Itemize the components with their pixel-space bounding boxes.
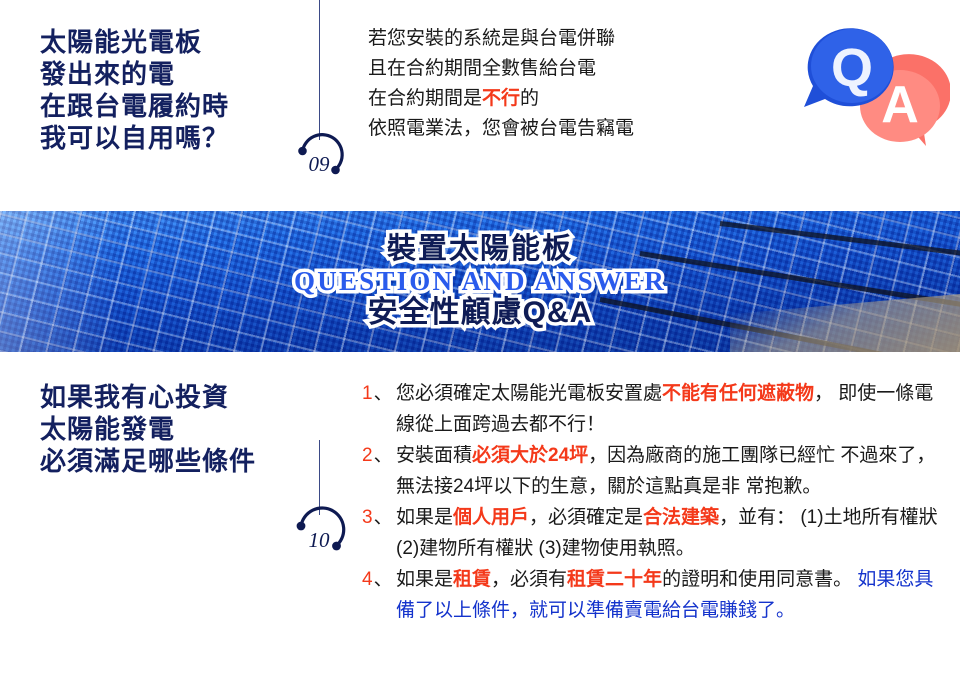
text-run: 不能有任何遮蔽物 — [662, 383, 814, 404]
svg-text:Q: Q — [831, 38, 873, 98]
infographic-page: 太陽能光電板 發出來的電 在跟台電履約時 我可以自用嗎？ 09 若您安裝的系統是… — [0, 0, 960, 679]
list-item-text: 如果是個人用戶，必須確定是合法建築，並有： (1)土地所有權狀 (2)建物所有權… — [396, 502, 952, 564]
answer-line: 依照電業法，您會被台電告竊電 — [368, 114, 634, 144]
text-run: 依照電業法，您會被台電告竊電 — [368, 118, 634, 139]
text-run: 租賃 — [453, 569, 491, 590]
text-run: 且在合約期間全數售給台電 — [368, 58, 596, 79]
banner-text-group: 裝置太陽能板 QUESTION AND ANSWER 安全性顧慮Q&A — [0, 211, 960, 352]
badge-leader-line-10 — [319, 440, 320, 515]
badge-10: 10 — [291, 512, 343, 564]
section-banner: 裝置太陽能板 QUESTION AND ANSWER 安全性顧慮Q&A — [0, 211, 960, 352]
text-run: 如果是 — [396, 569, 453, 590]
text-run: 安裝面積 — [396, 445, 472, 466]
list-item: 3、如果是個人用戶，必須確定是合法建築，並有： (1)土地所有權狀 (2)建物所… — [362, 502, 952, 564]
banner-title-line1: 裝置太陽能板 — [387, 235, 573, 264]
badge-number-09: 09 — [309, 152, 331, 176]
answer-line: 在合約期間是不行的 — [368, 84, 634, 114]
qa-speech-bubbles-icon: A Q — [800, 18, 950, 158]
text-run: 您必須確定太陽能光電板安置處 — [396, 383, 662, 404]
text-run: 租賃二十年 — [567, 569, 662, 590]
question-title-10: 如果我有心投資 太陽能發電 必須滿足哪些條件 — [40, 381, 256, 477]
list-item-number: 4、 — [362, 564, 396, 595]
text-run: ，必須有 — [491, 569, 567, 590]
banner-title-line3: 安全性顧慮Q&A — [368, 298, 593, 328]
list-item-number: 1、 — [362, 378, 396, 409]
list-item: 1、您必須確定太陽能光電板安置處不能有任何遮蔽物， 即使一條電線從上面跨過去都不… — [362, 378, 952, 440]
text-run: 的證明和使用同意書。 — [662, 569, 857, 590]
question-title-09: 太陽能光電板 發出來的電 在跟台電履約時 我可以自用嗎？ — [40, 26, 229, 154]
text-run: 若您安裝的系統是與台電併聯 — [368, 28, 615, 49]
answer-line: 若您安裝的系統是與台電併聯 — [368, 24, 634, 54]
list-item: 2、安裝面積必須大於24坪，因為廠商的施工團隊已經忙 不過來了，無法接24坪以下… — [362, 440, 952, 502]
text-run: 個人用戶 — [453, 507, 529, 528]
answer-line: 且在合約期間全數售給台電 — [368, 54, 634, 84]
list-item-number: 3、 — [362, 502, 396, 533]
list-item-number: 2、 — [362, 440, 396, 471]
text-run: 的 — [520, 88, 539, 109]
badge-number-10: 10 — [309, 528, 331, 552]
list-item-text: 安裝面積必須大於24坪，因為廠商的施工團隊已經忙 不過來了，無法接24坪以下的生… — [396, 440, 952, 502]
text-run: 必須大於24坪 — [472, 445, 588, 466]
badge-09: 09 — [293, 138, 345, 190]
text-run: 在合約期間是 — [368, 88, 482, 109]
question-bubble-icon: Q — [804, 28, 894, 107]
banner-subtitle-line2: QUESTION AND ANSWER — [294, 268, 666, 295]
list-item: 4、如果是租賃，必須有租賃二十年的證明和使用同意書。 如果您具備了以上條件，就可… — [362, 564, 952, 626]
text-run: 合法建築 — [643, 507, 719, 528]
text-run: 如果是 — [396, 507, 453, 528]
badge-leader-line-09 — [319, 0, 320, 140]
list-item-text: 如果是租賃，必須有租賃二十年的證明和使用同意書。 如果您具備了以上條件，就可以準… — [396, 564, 952, 626]
text-run: 不行 — [482, 88, 520, 109]
answer-body-09: 若您安裝的系統是與台電併聯且在合約期間全數售給台電在合約期間是不行的依照電業法，… — [368, 24, 634, 144]
list-item-text: 您必須確定太陽能光電板安置處不能有任何遮蔽物， 即使一條電線從上面跨過去都不行！ — [396, 378, 952, 440]
answer-list-10: 1、您必須確定太陽能光電板安置處不能有任何遮蔽物， 即使一條電線從上面跨過去都不… — [362, 378, 952, 626]
text-run: ，必須確定是 — [529, 507, 643, 528]
